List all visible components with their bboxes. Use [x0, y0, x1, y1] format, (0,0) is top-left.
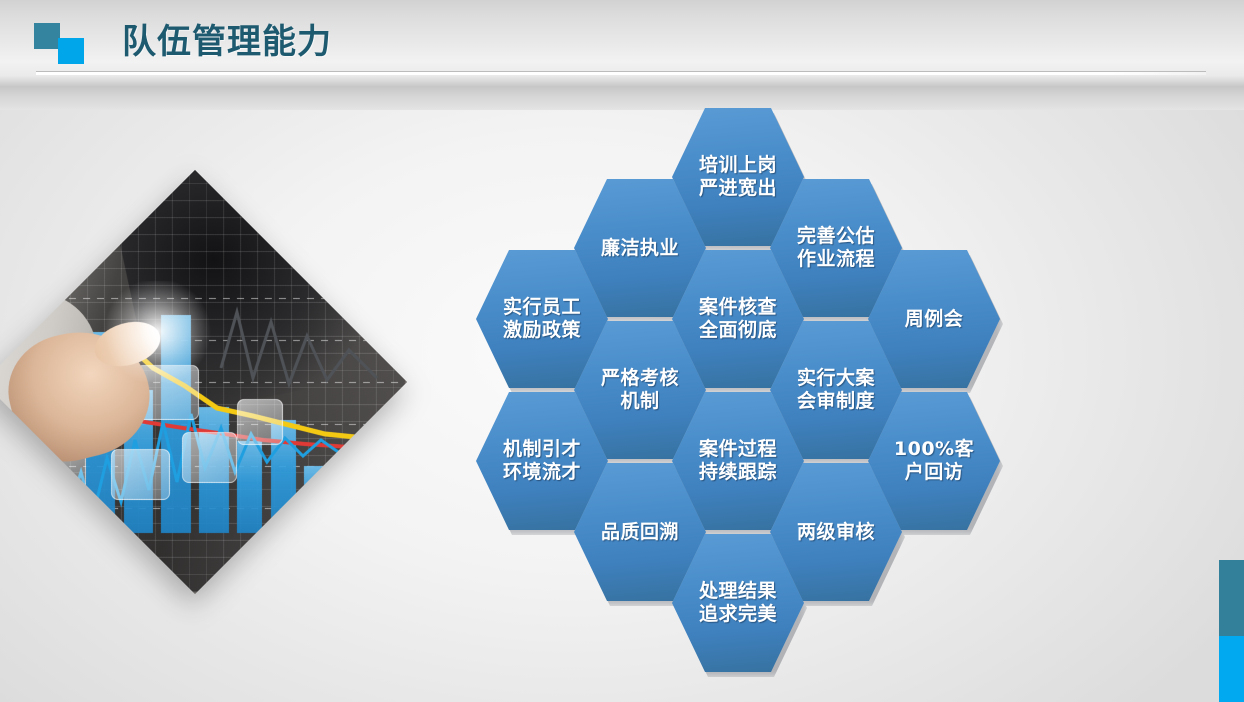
hex-cell-label: 100%客户回访	[874, 438, 994, 484]
hex-cell-label: 机制引才环境流才	[482, 438, 602, 484]
hex-cell-label: 实行大案会审制度	[776, 367, 896, 413]
hex-cell-label: 案件核查全面彻底	[678, 296, 798, 342]
hex-cell-label: 完善公估作业流程	[776, 225, 896, 271]
hex-cell-label: 案件过程持续跟踪	[678, 438, 798, 484]
hex-cell-label: 培训上岗严进宽出	[678, 154, 798, 200]
hex-cell-label: 严格考核机制	[580, 367, 700, 413]
edge-accent-blue	[1219, 636, 1244, 702]
hex-cell-label: 周例会	[874, 308, 994, 331]
slide-canvas: 队伍管理能力	[0, 0, 1244, 702]
hex-cell-label: 品质回溯	[580, 521, 700, 544]
hex-cell-label: 实行员工激励政策	[482, 296, 602, 342]
honeycomb-diagram: 实行员工激励政策机制引才环境流才廉洁执业严格考核机制品质回溯培训上岗严进宽出案件…	[0, 0, 1244, 702]
hex-cell-label: 两级审核	[776, 521, 896, 544]
edge-accent-teal	[1219, 560, 1244, 636]
hex-cell-label: 廉洁执业	[580, 237, 700, 260]
hex-cell-label: 处理结果追求完美	[678, 580, 798, 626]
